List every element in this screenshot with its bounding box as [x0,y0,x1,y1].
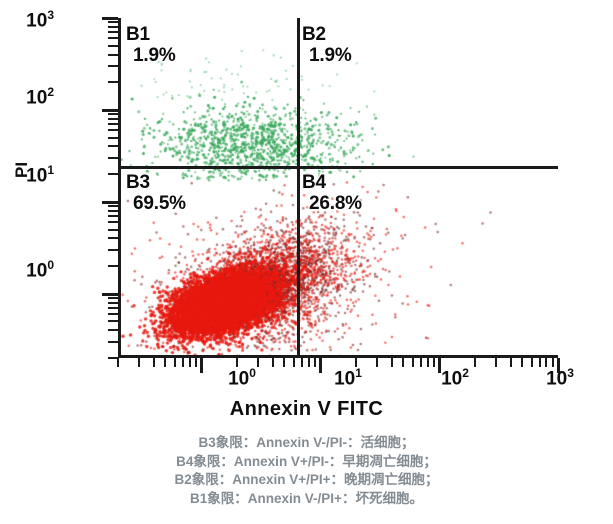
y-tick-minor [108,37,118,39]
quadrant-b1-name: B1 [126,24,150,45]
x-tick-label-10: 101 [334,366,362,390]
quadrant-b2-name: B2 [302,24,326,45]
y-tick-label-10: 101 [26,163,54,187]
y-tick-minor [108,205,118,207]
y-tick-minor [108,229,118,231]
caption-line-b4: B4象限：Annexin V+/PI-：早期凋亡细胞； [0,453,613,472]
x-tick-minor [257,358,259,367]
y-tick-minor [108,31,118,33]
x-tick-minor [433,358,435,367]
x-tick-minor [153,358,155,367]
x-tick-major [200,358,203,373]
x-tick-minor [420,358,422,367]
x-tick-minor [164,358,166,367]
quadrant-b3-percent: 69.5% [126,193,186,214]
y-tick-minor [108,173,118,175]
y-tick-minor [108,118,118,120]
x-tick-minor [293,358,295,367]
x-tick-minor [376,358,378,367]
y-tick-minor [108,157,118,159]
quadrant-label-b1: B1 1.9% [126,24,176,67]
quadrant-b2-percent: 1.9% [302,45,352,66]
y-tick-minor [108,129,118,131]
x-tick-minor [189,358,191,367]
quadrant-label-b2: B2 1.9% [302,24,352,67]
x-tick-minor [138,358,140,367]
x-tick-minor [510,358,512,367]
y-tick-minor [108,137,118,139]
y-tick-major [102,201,118,204]
y-tick-minor [108,215,118,217]
x-tick-minor [391,358,393,367]
y-tick-minor [108,302,118,304]
y-tick-minor [108,65,118,67]
x-tick-minor [402,358,404,367]
y-tick-minor [108,329,118,331]
y-tick-label-1: 100 [26,258,54,282]
x-tick-minor [283,358,285,367]
y-tick-minor [108,54,118,56]
quadrant-label-b4: B4 26.8% [302,172,362,215]
x-tick-minor [314,358,316,367]
y-tick-minor [108,81,118,83]
quadrant-b4-name: B4 [302,172,326,193]
y-tick-major [102,109,118,112]
y-tick-major [102,293,118,296]
y-tick-minor [108,237,118,239]
x-tick-minor [474,358,476,367]
x-tick-minor [174,358,176,367]
quadrant-b1-percent: 1.9% [126,45,176,66]
y-tick-minor [108,210,118,212]
flow-cytometry-figure: PI 103 102 101 100 100 101 102 103 B1 1.… [0,0,613,524]
y-tick-minor [108,249,118,251]
figure-caption: B3象限：Annexin V-/PI-：活细胞； B4象限：Annexin V+… [0,434,613,508]
x-tick-major [319,358,322,373]
y-tick-major [102,17,118,20]
x-tick-minor [495,358,497,367]
y-tick-label-100: 102 [26,85,54,109]
x-tick-minor [521,358,523,367]
quadrant-b4-percent: 26.8% [302,193,362,214]
x-tick-minor [308,358,310,367]
x-tick-minor [195,358,197,367]
x-tick-minor [182,358,184,367]
x-tick-minor [301,358,303,367]
x-tick-minor [117,358,119,367]
quadrant-divider-horizontal [121,166,558,169]
y-tick-minor [108,123,118,125]
y-tick-minor [108,145,118,147]
caption-line-b3: B3象限：Annexin V-/PI-：活细胞； [0,434,613,453]
x-tick-minor [272,358,274,367]
y-tick-minor [108,113,118,115]
y-tick-minor [108,26,118,28]
x-tick-label-100: 102 [441,366,469,390]
y-tick-label-1000: 103 [26,8,54,32]
y-tick-minor [108,45,118,47]
x-tick-label-1000: 103 [546,366,574,390]
caption-line-b1: B1象限：Annexin V-/PI+：坏死细胞。 [0,490,613,509]
x-tick-label-1: 100 [228,366,256,390]
quadrant-label-b3: B3 69.5% [126,172,186,215]
y-tick-minor [108,21,118,23]
x-tick-minor [539,358,541,367]
y-tick-minor [108,313,118,315]
y-tick-minor [108,341,118,343]
quadrant-b3-name: B3 [126,172,150,193]
y-tick-minor [108,221,118,223]
x-tick-minor [412,358,414,367]
x-tick-minor [427,358,429,367]
y-tick-minor [108,265,118,267]
y-tick-minor [108,307,118,309]
y-tick-minor [108,320,118,322]
x-tick-minor [531,358,533,367]
caption-line-b2: B2象限：Annexin V+/PI+：晚期凋亡细胞； [0,471,613,490]
x-axis-title: Annexin V FITC [0,398,613,421]
quadrant-divider-vertical [297,18,300,358]
y-tick-minor [108,297,118,299]
